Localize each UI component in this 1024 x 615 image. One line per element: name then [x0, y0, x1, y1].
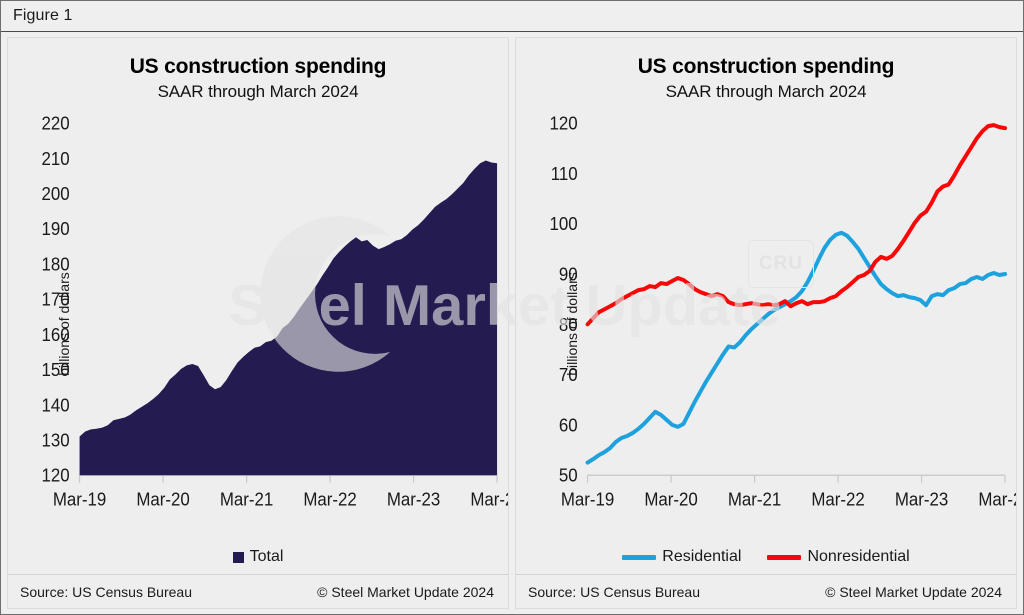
- svg-text:Mar-22: Mar-22: [303, 489, 356, 510]
- svg-text:Mar-21: Mar-21: [220, 489, 273, 510]
- legend-swatch-total-icon: [233, 552, 244, 563]
- svg-text:Mar-19: Mar-19: [53, 489, 106, 510]
- svg-text:220: 220: [41, 113, 69, 134]
- svg-text:Mar-20: Mar-20: [136, 489, 190, 510]
- svg-text:130: 130: [41, 430, 69, 451]
- left-chart-panel: US construction spending SAAR through Ma…: [7, 37, 509, 609]
- right-source-text: Source: US Census Bureau: [528, 584, 700, 600]
- legend-item-residential[interactable]: Residential: [622, 548, 741, 566]
- svg-text:Mar-21: Mar-21: [728, 489, 781, 510]
- right-chart-subtitle: SAAR through March 2024: [516, 82, 1016, 102]
- left-source-text: Source: US Census Bureau: [20, 584, 192, 600]
- svg-text:Mar-22: Mar-22: [811, 489, 864, 510]
- right-chart-legend: Residential Nonresidential: [516, 540, 1016, 574]
- legend-swatch-nonresidential-icon: [767, 555, 801, 560]
- svg-text:150: 150: [41, 359, 69, 380]
- svg-text:70: 70: [559, 364, 578, 385]
- right-chart-svg: 5060708090100110120Mar-19Mar-20Mar-21Mar…: [516, 108, 1016, 540]
- svg-text:200: 200: [41, 183, 69, 204]
- legend-label-residential: Residential: [662, 548, 741, 566]
- right-copyright-text: © Steel Market Update 2024: [825, 584, 1002, 600]
- svg-text:Mar-24: Mar-24: [470, 489, 508, 510]
- svg-text:Mar-19: Mar-19: [561, 489, 614, 510]
- svg-text:60: 60: [559, 415, 578, 436]
- svg-text:170: 170: [41, 289, 69, 310]
- svg-text:80: 80: [559, 314, 578, 335]
- right-plot-area: billions of dollars 5060708090100110120M…: [516, 108, 1016, 540]
- svg-text:120: 120: [549, 113, 577, 134]
- svg-text:Mar-24: Mar-24: [978, 489, 1016, 510]
- legend-swatch-residential-icon: [622, 555, 656, 560]
- svg-text:100: 100: [549, 214, 577, 235]
- svg-text:210: 210: [41, 148, 69, 169]
- legend-label-nonresidential: Nonresidential: [807, 548, 909, 566]
- svg-text:Mar-23: Mar-23: [387, 489, 441, 510]
- left-plot-area: billions of dollars 12013014015016017018…: [8, 108, 508, 540]
- left-chart-subtitle: SAAR through March 2024: [8, 82, 508, 102]
- svg-text:160: 160: [41, 324, 69, 345]
- svg-text:110: 110: [551, 163, 578, 184]
- svg-text:120: 120: [41, 465, 69, 486]
- svg-text:Mar-20: Mar-20: [644, 489, 698, 510]
- svg-text:90: 90: [559, 264, 578, 285]
- svg-text:50: 50: [559, 465, 578, 486]
- panels-row: US construction spending SAAR through Ma…: [1, 32, 1023, 615]
- left-copyright-text: © Steel Market Update 2024: [317, 584, 494, 600]
- figure-header: Figure 1: [1, 1, 1023, 32]
- svg-text:140: 140: [41, 395, 69, 416]
- left-chart-svg: 120130140150160170180190200210220Mar-19M…: [8, 108, 508, 540]
- left-chart-title: US construction spending: [8, 55, 508, 79]
- left-chart-footer: Source: US Census Bureau © Steel Market …: [8, 574, 508, 608]
- legend-label-total: Total: [250, 548, 284, 566]
- legend-item-nonresidential[interactable]: Nonresidential: [767, 548, 909, 566]
- figure-container: Figure 1 US construction spending SAAR t…: [0, 0, 1024, 615]
- right-chart-panel: US construction spending SAAR through Ma…: [515, 37, 1017, 609]
- svg-text:Mar-23: Mar-23: [895, 489, 949, 510]
- figure-label: Figure 1: [13, 7, 73, 25]
- left-chart-legend: Total: [8, 540, 508, 574]
- right-chart-title: US construction spending: [516, 55, 1016, 79]
- svg-text:190: 190: [41, 219, 69, 240]
- right-chart-footer: Source: US Census Bureau © Steel Market …: [516, 574, 1016, 608]
- svg-text:180: 180: [41, 254, 69, 275]
- legend-item-total[interactable]: Total: [233, 548, 284, 566]
